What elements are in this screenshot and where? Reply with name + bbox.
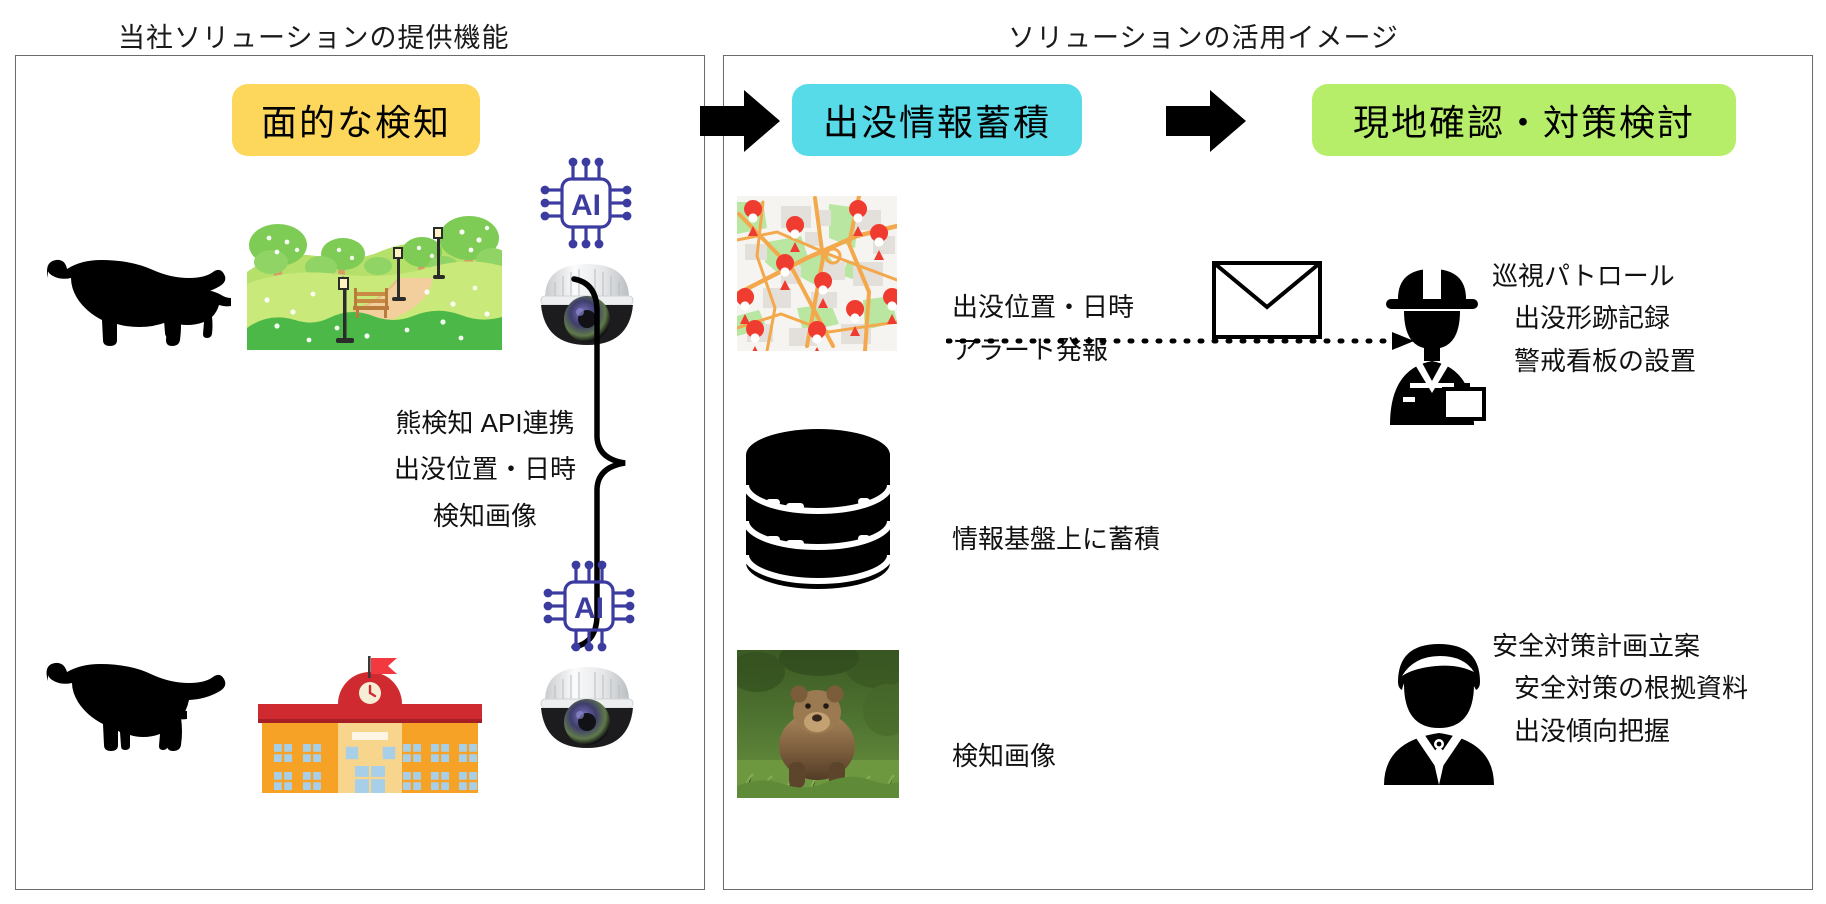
envelope-icon	[1211, 260, 1323, 340]
bear-silhouette-icon	[30, 238, 238, 358]
park-illustration	[247, 180, 502, 350]
block-arrow-right-icon-2	[1166, 90, 1246, 152]
outcome-line: 安全対策計画立案	[1492, 625, 1748, 667]
planning-outcome-block: 安全対策計画立案 安全対策の根拠資料 出没傾向把握	[1492, 625, 1748, 752]
alert-line: 出没位置・日時	[952, 286, 1134, 329]
worker-hardhat-icon	[1370, 255, 1494, 425]
stage-pill-detection[interactable]: 面的な検知	[232, 84, 480, 156]
detected-image-label: 検知画像	[952, 735, 1056, 778]
dome-camera-icon	[533, 655, 641, 759]
diagram-root: 当社ソリューションの提供機能 ソリューションの活用イメージ 面的な検知 出没情報…	[0, 0, 1826, 904]
storage-label: 情報基盤上に蓄積	[952, 518, 1160, 561]
school-illustration	[240, 648, 500, 793]
block-arrow-right-icon-1	[700, 90, 780, 152]
outcome-line: 警戒看板の設置	[1492, 340, 1696, 382]
feature-item: 熊検知 API連携	[355, 400, 615, 446]
outcome-line: 出没形跡記録	[1492, 297, 1696, 339]
left-panel-title: 当社ソリューションの提供機能	[118, 16, 509, 55]
feature-item: 検知画像	[355, 493, 615, 539]
ai-chip-label: AI	[571, 189, 601, 222]
left-feature-list: 熊検知 API連携 出没位置・日時 検知画像	[355, 400, 615, 539]
right-panel-title: ソリューションの活用イメージ	[1008, 16, 1399, 55]
map-thumbnail[interactable]	[737, 196, 897, 351]
outcome-line: 出没傾向把握	[1492, 710, 1748, 752]
ai-chip-icon: AI	[535, 152, 637, 254]
outcome-line: 巡視パトロール	[1492, 255, 1696, 297]
outcome-line: 安全対策の根拠資料	[1492, 667, 1748, 709]
database-icon	[740, 425, 896, 590]
stage-pill-accumulate[interactable]: 出没情報蓄積	[792, 84, 1082, 156]
patrol-outcome-block: 巡視パトロール 出没形跡記録 警戒看板の設置	[1492, 255, 1696, 382]
dotted-arrow-right-icon	[946, 330, 1416, 352]
feature-item: 出没位置・日時	[355, 446, 615, 492]
businessman-icon	[1380, 630, 1498, 785]
alert-label-group: 出没位置・日時 アラート発報	[952, 286, 1134, 372]
bear-photograph[interactable]	[737, 650, 899, 798]
ai-chip-label: AI	[574, 592, 604, 625]
stage-pill-review[interactable]: 現地確認・対策検討	[1312, 84, 1736, 156]
bear-silhouette-icon	[30, 645, 238, 765]
ai-chip-icon: AI	[538, 555, 640, 657]
